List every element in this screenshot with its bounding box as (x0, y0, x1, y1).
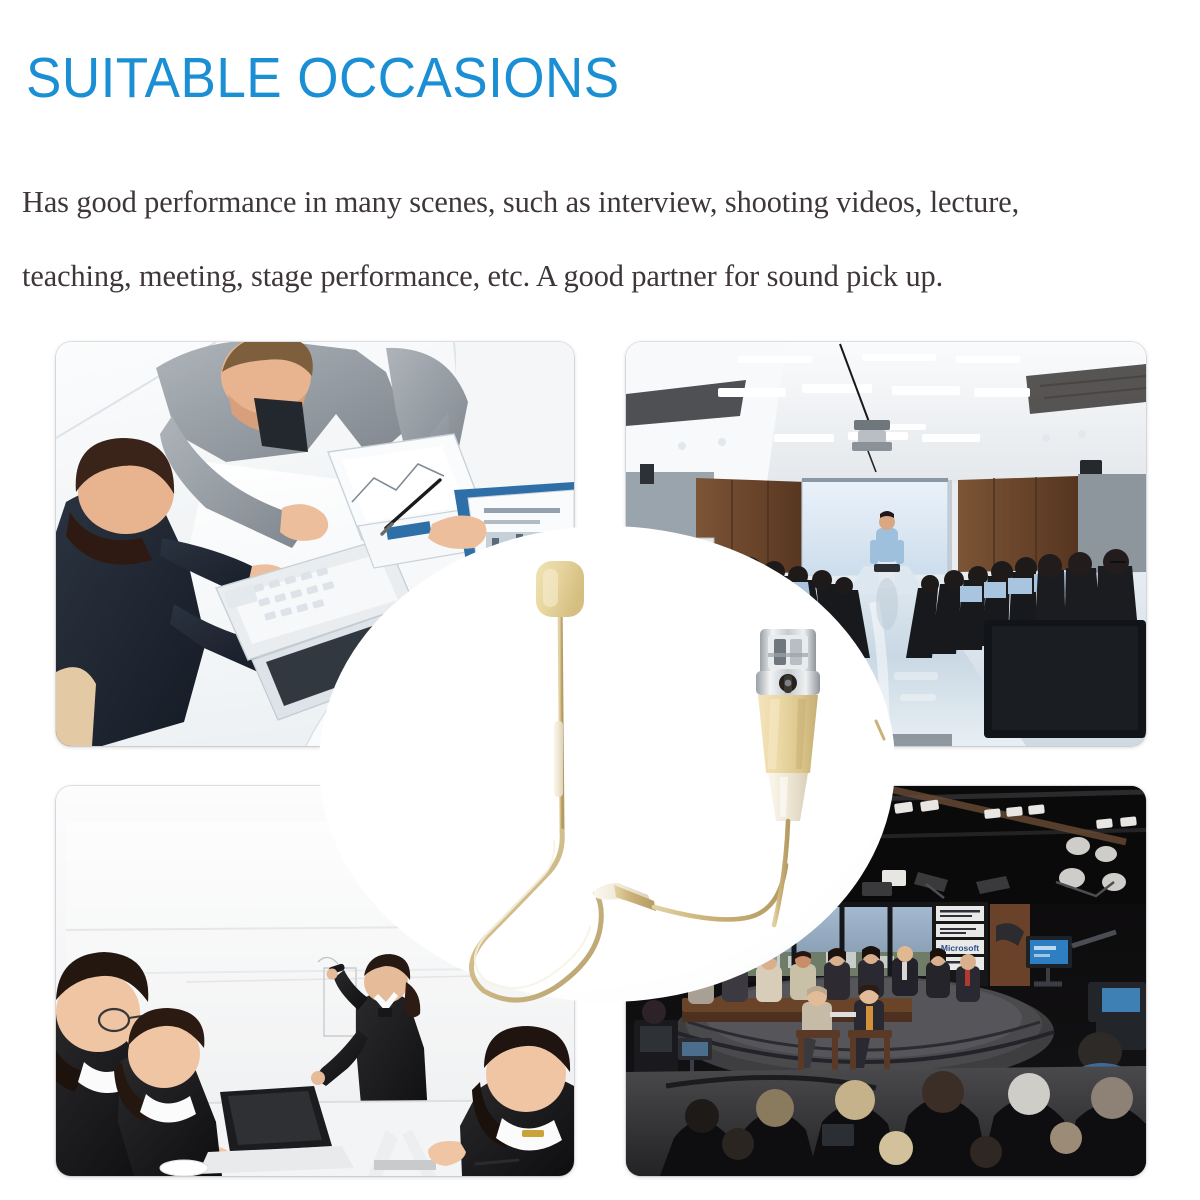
page-title: SUITABLE OCCASIONS (26, 50, 620, 107)
product-infographic-page: SUITABLE OCCASIONS Has good performance … (0, 0, 1200, 1200)
sponsor-banner-microsoft: Microsoft (941, 943, 979, 953)
description-line-1: Has good performance in many scenes, suc… (22, 165, 1176, 239)
description-line-2: teaching, meeting, stage performance, et… (22, 239, 1176, 313)
product-microphone-illustration (318, 525, 896, 1003)
boom-sleeve (554, 721, 563, 797)
windscreen-highlight (543, 569, 558, 607)
description-text: Has good performance in many scenes, suc… (22, 165, 1182, 313)
product-showcase-oval (318, 525, 896, 1003)
xlr-connector-body (758, 695, 818, 773)
